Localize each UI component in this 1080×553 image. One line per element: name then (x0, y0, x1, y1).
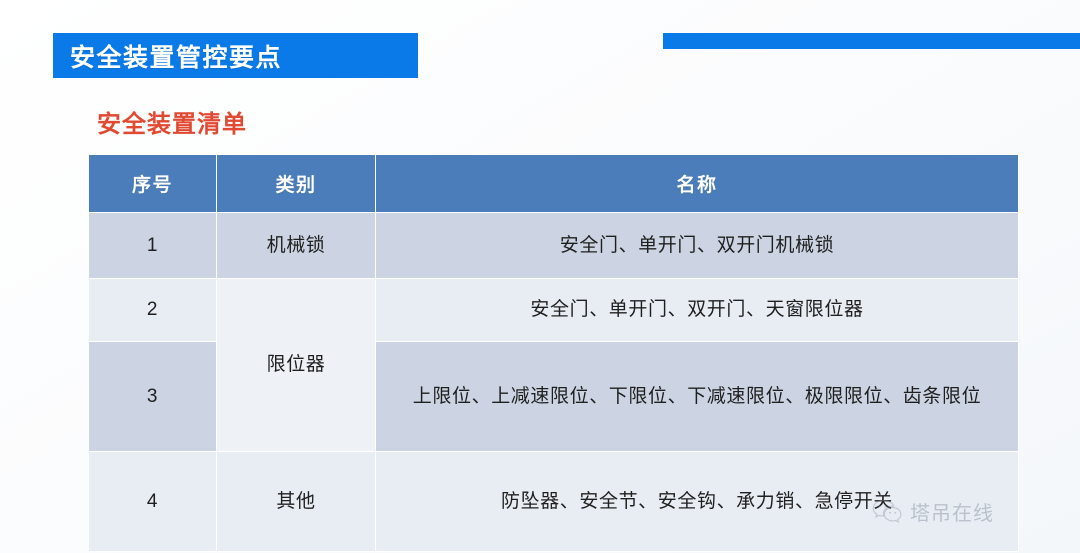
table-row: 2 限位器 安全门、单开门、双开门、天窗限位器 (89, 279, 1019, 342)
column-header-category: 类别 (217, 155, 376, 213)
watermark-label: 塔吊在线 (910, 497, 994, 526)
section-subtitle: 安全装置清单 (97, 104, 247, 139)
column-header-index: 序号 (89, 155, 217, 213)
watermark: 塔吊在线 (872, 497, 994, 526)
cell-category: 其他 (217, 452, 376, 552)
column-header-name: 名称 (376, 155, 1019, 213)
cell-name: 上限位、上减速限位、下限位、下减速限位、极限限位、齿条限位 (376, 342, 1019, 452)
table-header-row: 序号 类别 名称 (89, 155, 1019, 213)
cell-index: 4 (89, 452, 217, 552)
page-title: 安全装置管控要点 (70, 38, 282, 74)
cell-name: 安全门、单开门、双开门机械锁 (376, 213, 1019, 279)
header-accent-bar (663, 33, 1080, 49)
cell-index: 3 (89, 342, 217, 452)
table-row: 1 机械锁 安全门、单开门、双开门机械锁 (89, 213, 1019, 279)
cell-index: 1 (89, 213, 217, 279)
safety-device-table: 序号 类别 名称 1 机械锁 安全门、单开门、双开门机械锁 2 限位器 安全门、… (88, 154, 1019, 552)
safety-device-table-container: 序号 类别 名称 1 机械锁 安全门、单开门、双开门机械锁 2 限位器 安全门、… (88, 154, 1018, 552)
slide-canvas: 安全装置管控要点 安全装置清单 序号 类别 名称 1 机械锁 安 (0, 0, 1080, 553)
cell-category: 机械锁 (217, 213, 376, 279)
cell-name: 安全门、单开门、双开门、天窗限位器 (376, 279, 1019, 342)
wechat-icon (872, 499, 902, 525)
cell-category-merged: 限位器 (217, 279, 376, 452)
table-header: 序号 类别 名称 (89, 155, 1019, 213)
slide-title-bar: 安全装置管控要点 (53, 33, 418, 78)
cell-index: 2 (89, 279, 217, 342)
